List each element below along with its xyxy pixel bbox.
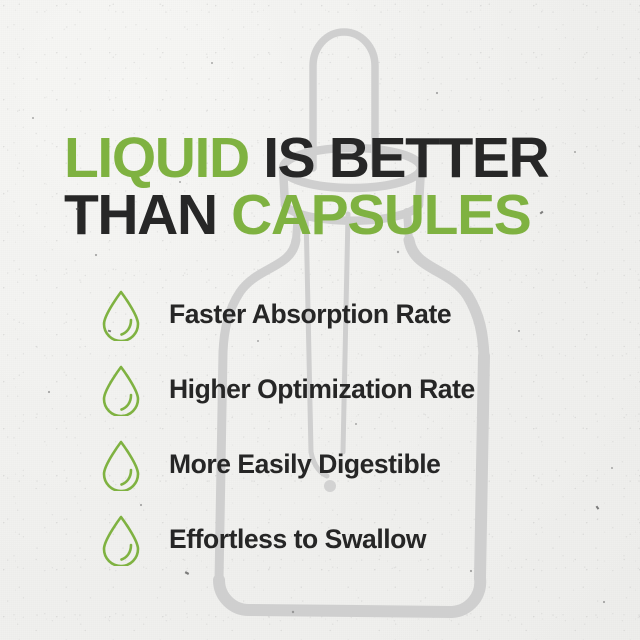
droplet-icon [100, 364, 142, 416]
benefit-item-effortless-to-swallow: Effortless to Swallow [100, 502, 600, 577]
headline: LIQUID IS BETTER THAN CAPSULES [64, 130, 594, 244]
benefit-item-higher-optimization-rate: Higher Optimization Rate [100, 352, 600, 427]
benefit-label: Higher Optimization Rate [169, 374, 475, 405]
benefit-item-more-easily-digestible: More Easily Digestible [100, 427, 600, 502]
headline-line-1: LIQUID IS BETTER [64, 130, 594, 187]
bottle-bottom [219, 578, 480, 612]
droplet-icon [100, 289, 142, 341]
headline-phrase-is-better: IS BETTER [249, 126, 549, 190]
droplet-icon [100, 439, 142, 491]
headline-word-liquid: LIQUID [64, 126, 249, 190]
infographic-canvas: LIQUID IS BETTER THAN CAPSULES Faster Ab… [0, 0, 640, 640]
benefit-label: More Easily Digestible [169, 449, 440, 480]
headline-phrase-than: THAN [64, 183, 231, 247]
headline-line-2: THAN CAPSULES [64, 187, 594, 244]
benefit-item-faster-absorption-rate: Faster Absorption Rate [100, 277, 600, 352]
benefit-label: Effortless to Swallow [169, 524, 426, 555]
benefit-label: Faster Absorption Rate [169, 299, 451, 330]
benefits-list: Faster Absorption Rate Higher Optimizati… [100, 277, 600, 577]
headline-word-capsules: CAPSULES [231, 183, 530, 247]
droplet-icon [100, 514, 142, 566]
